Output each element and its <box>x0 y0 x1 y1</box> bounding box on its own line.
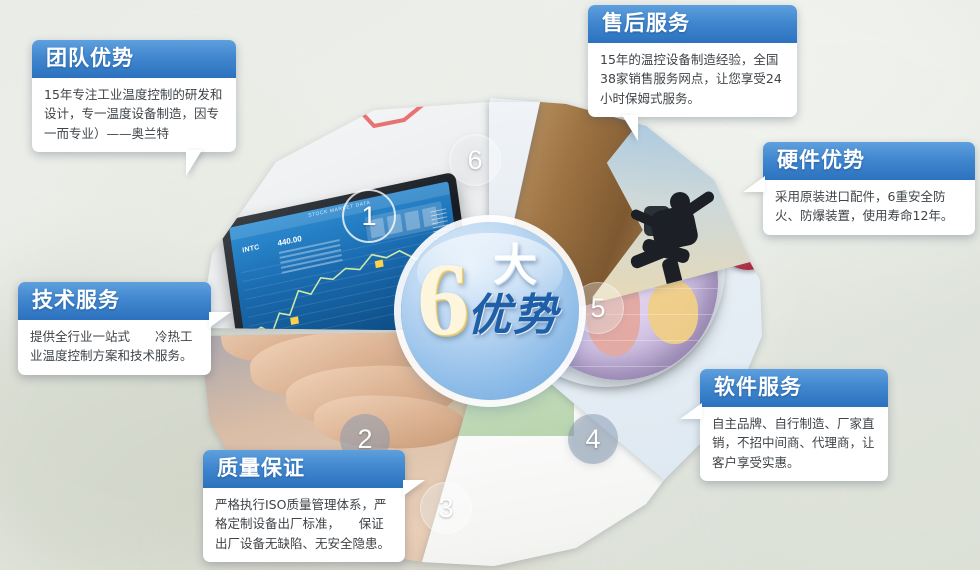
callout-tail <box>622 115 638 141</box>
callout-card-quality[interactable]: 质量保证 严格执行ISO质量管理体系，严格定制设备出厂标准， 保证出厂设备无缺陷… <box>203 450 405 562</box>
callout-card-after-sales[interactable]: 售后服务 15年的温控设备制造经验，全国38家销售服务网点，让您享受24小时保姆… <box>588 5 797 117</box>
card-body-after-sales: 15年的温控设备制造经验，全国38家销售服务网点，让您享受24小时保姆式服务。 <box>588 43 797 117</box>
callout-card-tech[interactable]: 技术服务 提供全行业一站式 冷热工业温度控制方案和技术服务。 <box>18 282 211 375</box>
callout-tail <box>209 312 231 328</box>
infographic-stage: INTC 440.00 <box>0 0 980 570</box>
badge-unit: 大 <box>493 244 537 288</box>
card-title-after-sales: 售后服务 <box>588 5 797 43</box>
card-title-software: 软件服务 <box>700 369 888 407</box>
callout-card-software[interactable]: 软件服务 自主品牌、自行制造、厂家直销，不招中间商、代理商，让客户享受实惠。 <box>700 369 888 481</box>
callout-tail <box>403 480 425 496</box>
card-body-team: 15年专注工业温度控制的研发和设计，专一温度设备制造，因专一而专业）——奥兰特 <box>32 78 236 152</box>
callout-tail <box>680 403 702 419</box>
card-body-software: 自主品牌、自行制造、厂家直销，不招中间商、代理商，让客户享受实惠。 <box>700 407 888 481</box>
segment-number-6[interactable]: 6 <box>449 134 501 186</box>
callout-card-team[interactable]: 团队优势 15年专注工业温度控制的研发和设计，专一温度设备制造，因专一而专业）—… <box>32 40 236 152</box>
card-title-team: 团队优势 <box>32 40 236 78</box>
card-title-tech: 技术服务 <box>18 282 211 320</box>
callout-tail <box>186 150 202 176</box>
badge-word: 优势 <box>467 294 559 338</box>
card-body-quality: 严格执行ISO质量管理体系，严格定制设备出厂标准， 保证出厂设备无缺陷、无安全隐… <box>203 488 405 562</box>
badge-number: 6 <box>417 248 469 352</box>
card-title-quality: 质量保证 <box>203 450 405 488</box>
center-badge[interactable]: 6 大 优势 <box>401 222 579 400</box>
card-body-tech: 提供全行业一站式 冷热工业温度控制方案和技术服务。 <box>18 320 211 375</box>
card-body-hardware: 采用原装进口配件，6重安全防火、防爆装置，使用寿命12年。 <box>763 180 975 235</box>
card-title-hardware: 硬件优势 <box>763 142 975 180</box>
callout-card-hardware[interactable]: 硬件优势 采用原装进口配件，6重安全防火、防爆装置，使用寿命12年。 <box>763 142 975 235</box>
callout-tail <box>743 176 765 192</box>
